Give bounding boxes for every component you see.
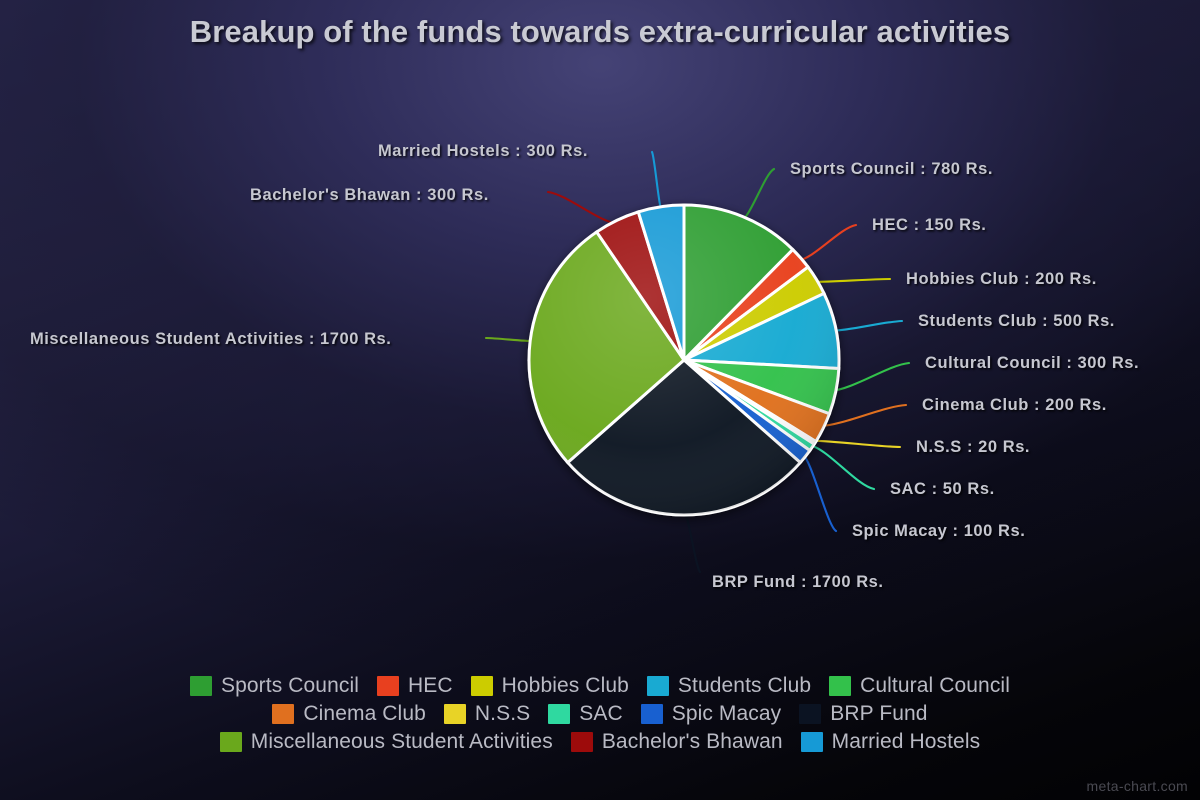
legend-item-label: Bachelor's Bhawan [602,730,783,754]
leader-line-misc-student [486,338,534,341]
leader-line-hec [798,225,856,261]
legend-item-label: Spic Macay [672,702,782,726]
legend-swatch-icon [641,704,663,724]
legend-item[interactable]: Sports Council [190,674,359,698]
chart-legend: Sports CouncilHECHobbies ClubStudents Cl… [0,672,1200,756]
leader-line-spic-macay [802,454,836,531]
leader-line-married-hostels [652,152,661,211]
legend-item[interactable]: Cultural Council [829,674,1010,698]
callout-label-hec: HEC : 150 Rs. [872,216,986,235]
legend-item[interactable]: Hobbies Club [471,674,629,698]
legend-item[interactable]: SAC [548,702,622,726]
leader-line-sports-council [741,169,774,220]
legend-item-label: N.S.S [475,702,530,726]
legend-item-label: SAC [579,702,622,726]
legend-item-label: Students Club [678,674,811,698]
leader-line-cultural-council [832,363,909,391]
legend-item[interactable]: Married Hostels [801,730,981,754]
legend-item[interactable]: Spic Macay [641,702,782,726]
legend-item-label: Cultural Council [860,674,1010,698]
legend-swatch-icon [829,676,851,696]
legend-row: Sports CouncilHECHobbies ClubStudents Cl… [0,672,1200,700]
legend-swatch-icon [444,704,466,724]
legend-item-label: Sports Council [221,674,359,698]
callout-label-married-hostels: Married Hostels : 300 Rs. [378,142,588,161]
callout-label-cinema-club: Cinema Club : 200 Rs. [922,396,1107,415]
legend-item[interactable]: Cinema Club [272,702,426,726]
legend-item[interactable]: Miscellaneous Student Activities [220,730,553,754]
legend-item-label: HEC [408,674,453,698]
callout-label-sac: SAC : 50 Rs. [890,480,995,499]
legend-swatch-icon [799,704,821,724]
legend-item[interactable]: N.S.S [444,702,530,726]
legend-item-label: Married Hostels [832,730,981,754]
callout-label-students-club: Students Club : 500 Rs. [918,312,1115,331]
legend-swatch-icon [190,676,212,696]
legend-item-label: Hobbies Club [502,674,629,698]
callout-label-spic-macay: Spic Macay : 100 Rs. [852,522,1025,541]
leader-line-hobbies-club [813,279,890,282]
legend-swatch-icon [471,676,493,696]
leader-line-sac [809,445,874,489]
callout-label-cultural-council: Cultural Council : 300 Rs. [925,354,1139,373]
callout-label-sports-council: Sports Council : 780 Rs. [790,160,993,179]
legend-swatch-icon [647,676,669,696]
callout-label-bachelors-bhawan: Bachelor's Bhawan : 300 Rs. [250,186,489,205]
leader-line-students-club [832,321,902,331]
chart-page: Breakup of the funds towards extra-curri… [0,0,1200,800]
legend-swatch-icon [571,732,593,752]
pie-slices-group [529,205,839,515]
legend-swatch-icon [548,704,570,724]
legend-swatch-icon [220,732,242,752]
legend-swatch-icon [377,676,399,696]
leader-line-nss [812,441,900,447]
legend-item-label: BRP Fund [830,702,927,726]
legend-item-label: Miscellaneous Student Activities [251,730,553,754]
legend-item[interactable]: Students Club [647,674,811,698]
callout-label-hobbies-club: Hobbies Club : 200 Rs. [906,270,1097,289]
legend-row: Cinema ClubN.S.SSACSpic MacayBRP Fund [0,700,1200,728]
legend-row: Miscellaneous Student ActivitiesBachelor… [0,728,1200,756]
callout-label-brp-fund: BRP Fund : 1700 Rs. [712,573,884,592]
callout-label-nss: N.S.S : 20 Rs. [916,438,1030,457]
watermark: meta-chart.com [1087,778,1188,794]
callout-label-misc-student: Miscellaneous Student Activities : 1700 … [30,330,391,349]
leader-line-brp-fund [684,511,700,572]
legend-swatch-icon [801,732,823,752]
legend-swatch-icon [272,704,294,724]
legend-item[interactable]: HEC [377,674,453,698]
legend-item[interactable]: Bachelor's Bhawan [571,730,783,754]
leader-line-bachelors-bhawan [548,192,618,224]
legend-item-label: Cinema Club [303,702,426,726]
legend-item[interactable]: BRP Fund [799,702,927,726]
